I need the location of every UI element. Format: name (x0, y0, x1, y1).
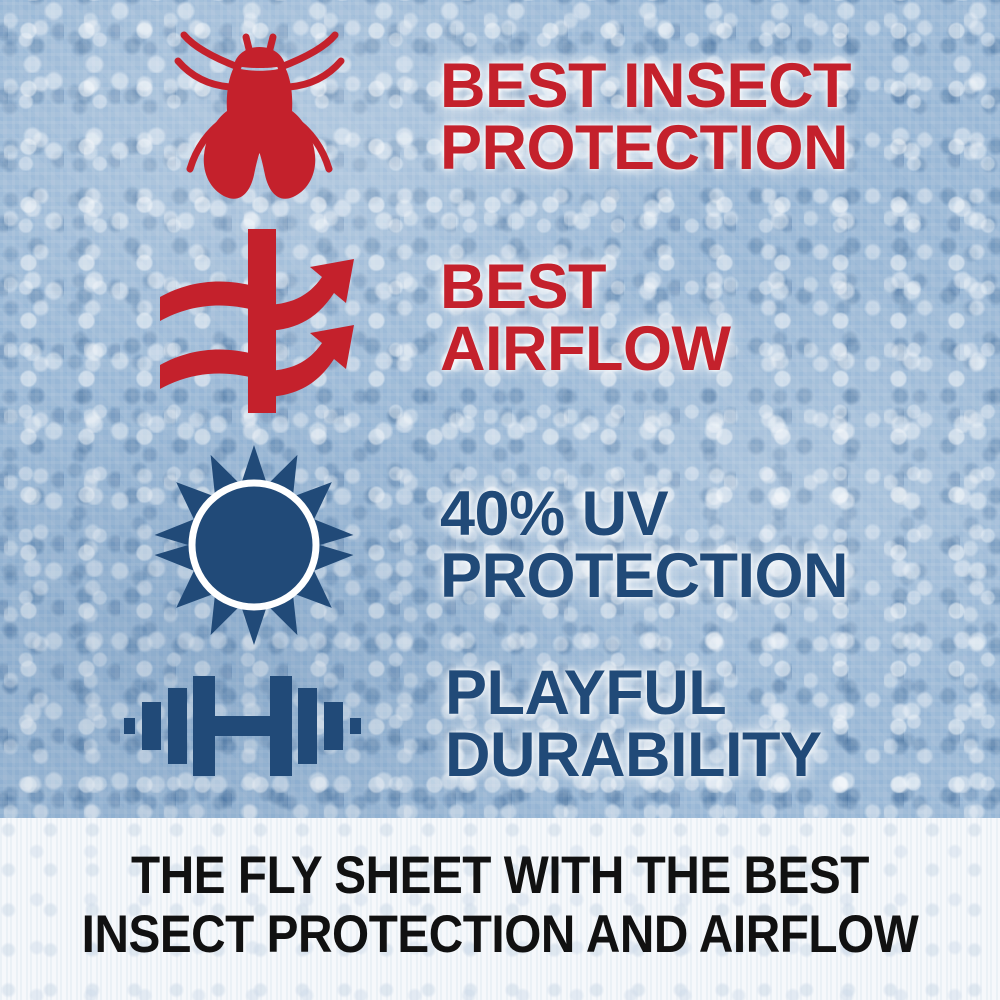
infographic-root: BEST INSECT PROTECTION BEST AIRFLOW (0, 0, 1000, 1000)
feature-row-durability: PLAYFUL DURABILITY (120, 650, 980, 800)
feature-row-uv-protection: 40% UV PROTECTION (150, 438, 980, 654)
feature-row-insect-protection: BEST INSECT PROTECTION (150, 18, 980, 218)
fly-icon (150, 23, 365, 213)
sun-uv-icon (150, 441, 365, 651)
feature-label-durability: PLAYFUL DURABILITY (445, 663, 821, 786)
airflow-through-mesh-icon (150, 219, 365, 419)
dumbbell-durability-icon (120, 660, 365, 790)
caption-headline: THE FLY SHEET WITH THE BEST INSECT PROTE… (50, 818, 950, 965)
caption-band: THE FLY SHEET WITH THE BEST INSECT PROTE… (0, 818, 1000, 1000)
feature-label-insect-protection: BEST INSECT PROTECTION (440, 56, 851, 179)
feature-label-airflow: BEST AIRFLOW (440, 257, 730, 380)
feature-row-airflow: BEST AIRFLOW (150, 215, 980, 423)
feature-label-uv-protection: 40% UV PROTECTION (440, 484, 848, 607)
